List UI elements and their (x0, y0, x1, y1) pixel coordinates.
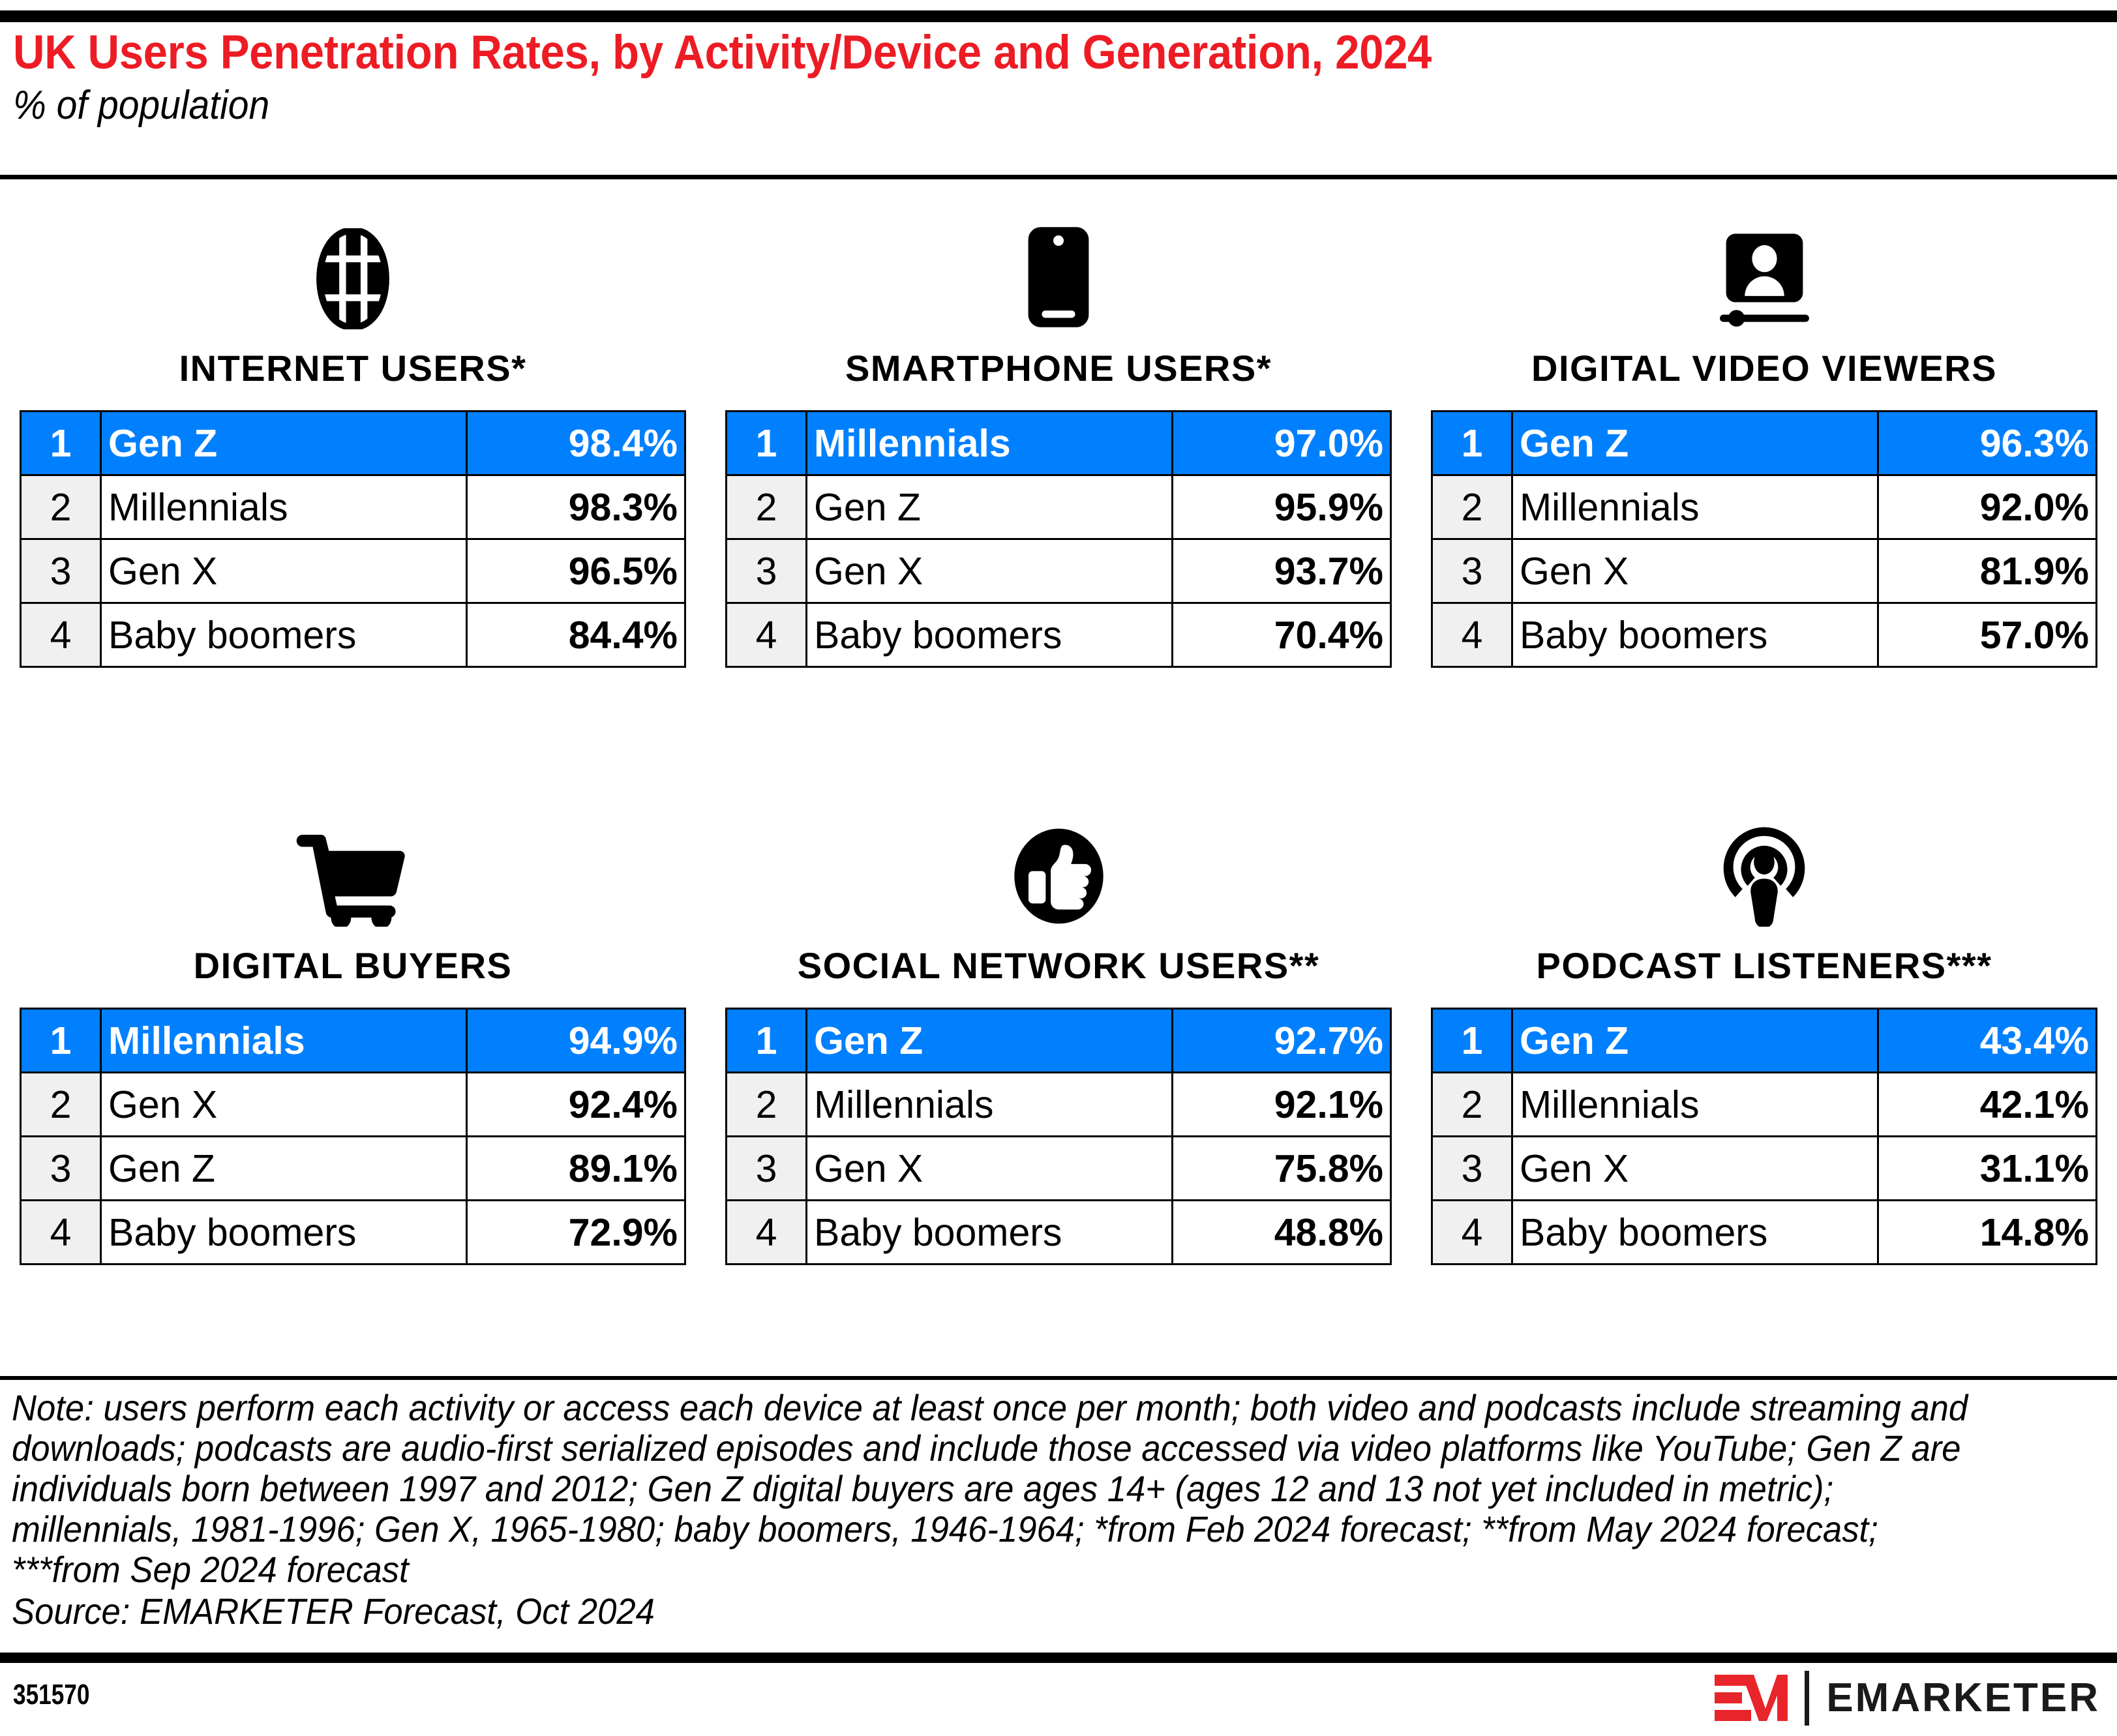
rank-cell: 4 (727, 603, 807, 667)
name-cell: Gen Z (1512, 1009, 1878, 1073)
page-title: UK Users Penetration Rates, by Activity/… (13, 26, 1933, 80)
card-title: SOCIAL NETWORK USERS** (798, 946, 1319, 985)
name-cell: Gen X (1512, 1137, 1878, 1201)
em-logo-mark (1715, 1672, 1788, 1724)
rank-cell: 1 (21, 412, 101, 475)
table-row: 3 Gen X 96.5% (21, 539, 685, 603)
note-text: Note: users perform each activity or acc… (12, 1388, 1979, 1590)
value-cell: 96.3% (1878, 412, 2097, 475)
rank-cell: 4 (1432, 603, 1512, 667)
value-cell: 43.4% (1878, 1009, 2097, 1073)
name-cell: Baby boomers (1512, 1201, 1878, 1265)
card-smartphone-users: SMARTPHONE USERS* 1 Millennials 97.0% 2 … (706, 215, 1411, 668)
header: UK Users Penetration Rates, by Activity/… (13, 26, 2100, 129)
table-row: 4 Baby boomers 72.9% (21, 1201, 685, 1265)
value-cell: 48.8% (1173, 1201, 1391, 1265)
rank-cell: 3 (21, 539, 101, 603)
rank-cell: 1 (21, 1009, 101, 1073)
value-cell: 94.9% (467, 1009, 685, 1073)
rank-table: 1 Gen Z 96.3% 2 Millennials 92.0% 3 Gen … (1431, 410, 2097, 668)
rank-table: 1 Millennials 94.9% 2 Gen X 92.4% 3 Gen … (20, 1008, 686, 1265)
name-cell: Gen Z (101, 1137, 467, 1201)
table-row: 2 Gen Z 95.9% (727, 475, 1391, 539)
value-cell: 70.4% (1173, 603, 1391, 667)
value-cell: 92.4% (467, 1073, 685, 1137)
name-cell: Millennials (101, 475, 467, 539)
name-cell: Gen X (101, 539, 467, 603)
rank-cell: 3 (727, 1137, 807, 1201)
table-row: 2 Millennials 92.0% (1432, 475, 2097, 539)
rank-cell: 2 (727, 1073, 807, 1137)
rank-cell: 2 (21, 475, 101, 539)
table-row: 2 Millennials 98.3% (21, 475, 685, 539)
shopping-cart-icon (296, 813, 410, 927)
rank-cell: 2 (727, 475, 807, 539)
card-digital-video-viewers: DIGITAL VIDEO VIEWERS 1 Gen Z 96.3% 2 Mi… (1411, 215, 2117, 668)
value-cell: 84.4% (467, 603, 685, 667)
name-cell: Millennials (101, 1009, 467, 1073)
logo-divider (1805, 1671, 1809, 1726)
value-cell: 31.1% (1878, 1137, 2097, 1201)
name-cell: Gen X (807, 539, 1173, 603)
video-player-icon (1707, 215, 1822, 329)
table-row: 2 Gen X 92.4% (21, 1073, 685, 1137)
name-cell: Gen Z (101, 412, 467, 475)
value-cell: 98.3% (467, 475, 685, 539)
name-cell: Baby boomers (1512, 603, 1878, 667)
emarketer-logo: EMARKETER (1715, 1672, 2100, 1724)
value-cell: 98.4% (467, 412, 685, 475)
rank-cell: 4 (21, 1201, 101, 1265)
rank-table: 1 Gen Z 43.4% 2 Millennials 42.1% 3 Gen … (1431, 1008, 2097, 1265)
top-rule (0, 10, 2117, 22)
table-row: 3 Gen X 81.9% (1432, 539, 2097, 603)
value-cell: 92.0% (1878, 475, 2097, 539)
value-cell: 89.1% (467, 1137, 685, 1201)
rank-cell: 1 (1432, 412, 1512, 475)
logo-wordmark: EMARKETER (1826, 1678, 2100, 1718)
rank-table: 1 Gen Z 92.7% 2 Millennials 92.1% 3 Gen … (725, 1008, 1392, 1265)
rank-cell: 4 (1432, 1201, 1512, 1265)
card-title: INTERNET USERS* (179, 349, 527, 388)
name-cell: Millennials (1512, 1073, 1878, 1137)
rank-cell: 4 (21, 603, 101, 667)
table-row: 4 Baby boomers 48.8% (727, 1201, 1391, 1265)
note-block: Note: users perform each activity or acc… (12, 1388, 2105, 1632)
value-cell: 95.9% (1173, 475, 1391, 539)
footer: 351570 EMARKETER (0, 1667, 2117, 1736)
value-cell: 14.8% (1878, 1201, 2097, 1265)
source-text: Source: EMARKETER Forecast, Oct 2024 (12, 1591, 1979, 1632)
smartphone-icon (1024, 215, 1093, 329)
card-internet-users: INTERNET USERS* 1 Gen Z 98.4% 2 Millenni… (0, 215, 706, 668)
table-row: 3 Gen Z 89.1% (21, 1137, 685, 1201)
value-cell: 81.9% (1878, 539, 2097, 603)
name-cell: Baby boomers (101, 1201, 467, 1265)
table-row: 4 Baby boomers 70.4% (727, 603, 1391, 667)
value-cell: 92.7% (1173, 1009, 1391, 1073)
rank-table: 1 Millennials 97.0% 2 Gen Z 95.9% 3 Gen … (725, 410, 1392, 668)
value-cell: 93.7% (1173, 539, 1391, 603)
value-cell: 96.5% (467, 539, 685, 603)
value-cell: 97.0% (1173, 412, 1391, 475)
note-divider (0, 1376, 2117, 1380)
rank-cell: 1 (727, 412, 807, 475)
title-divider (0, 175, 2117, 179)
card-digital-buyers: DIGITAL BUYERS 1 Millennials 94.9% 2 Gen… (0, 813, 706, 1265)
card-social-network-users: SOCIAL NETWORK USERS** 1 Gen Z 92.7% 2 M… (706, 813, 1411, 1265)
table-row: 2 Millennials 42.1% (1432, 1073, 2097, 1137)
rank-cell: 3 (1432, 539, 1512, 603)
rank-cell: 3 (1432, 1137, 1512, 1201)
table-row: 4 Baby boomers 57.0% (1432, 603, 2097, 667)
table-row: 1 Millennials 97.0% (727, 412, 1391, 475)
value-cell: 57.0% (1878, 603, 2097, 667)
value-cell: 72.9% (467, 1201, 685, 1265)
name-cell: Gen X (1512, 539, 1878, 603)
name-cell: Gen X (807, 1137, 1173, 1201)
card-podcast-listeners: PODCAST LISTENERS*** 1 Gen Z 43.4% 2 Mil… (1411, 813, 2117, 1265)
rank-cell: 2 (21, 1073, 101, 1137)
name-cell: Millennials (807, 412, 1173, 475)
rank-cell: 3 (727, 539, 807, 603)
cards-grid: INTERNET USERS* 1 Gen Z 98.4% 2 Millenni… (0, 215, 2117, 1265)
rank-cell: 4 (727, 1201, 807, 1265)
cards-row-1: INTERNET USERS* 1 Gen Z 98.4% 2 Millenni… (0, 215, 2117, 668)
name-cell: Gen Z (1512, 412, 1878, 475)
value-cell: 75.8% (1173, 1137, 1391, 1201)
table-row: 1 Gen Z 98.4% (21, 412, 685, 475)
chart-id: 351570 (13, 1679, 89, 1711)
rank-cell: 3 (21, 1137, 101, 1201)
rank-table: 1 Gen Z 98.4% 2 Millennials 98.3% 3 Gen … (20, 410, 686, 668)
infographic-page: UK Users Penetration Rates, by Activity/… (0, 0, 2117, 1736)
rank-cell: 1 (1432, 1009, 1512, 1073)
card-title: DIGITAL VIDEO VIEWERS (1531, 349, 1997, 388)
thumbs-up-icon (1008, 813, 1109, 927)
bottom-rule (0, 1653, 2117, 1663)
page-subtitle: % of population (13, 82, 1933, 129)
table-row: 3 Gen X 93.7% (727, 539, 1391, 603)
rank-cell: 2 (1432, 1073, 1512, 1137)
name-cell: Millennials (807, 1073, 1173, 1137)
card-title: DIGITAL BUYERS (194, 946, 513, 985)
table-row: 4 Baby boomers 84.4% (21, 603, 685, 667)
name-cell: Baby boomers (807, 603, 1173, 667)
globe-icon (304, 215, 402, 329)
name-cell: Baby boomers (101, 603, 467, 667)
table-row: 2 Millennials 92.1% (727, 1073, 1391, 1137)
table-row: 1 Gen Z 92.7% (727, 1009, 1391, 1073)
name-cell: Baby boomers (807, 1201, 1173, 1265)
table-row: 1 Gen Z 96.3% (1432, 412, 2097, 475)
table-row: 4 Baby boomers 14.8% (1432, 1201, 2097, 1265)
podcast-icon (1713, 813, 1816, 927)
name-cell: Gen Z (807, 475, 1173, 539)
table-row: 3 Gen X 31.1% (1432, 1137, 2097, 1201)
card-title: PODCAST LISTENERS*** (1537, 946, 1992, 985)
card-title: SMARTPHONE USERS* (845, 349, 1272, 388)
value-cell: 92.1% (1173, 1073, 1391, 1137)
table-row: 1 Millennials 94.9% (21, 1009, 685, 1073)
rank-cell: 2 (1432, 475, 1512, 539)
rank-cell: 1 (727, 1009, 807, 1073)
cards-row-2: DIGITAL BUYERS 1 Millennials 94.9% 2 Gen… (0, 813, 2117, 1265)
name-cell: Millennials (1512, 475, 1878, 539)
table-row: 1 Gen Z 43.4% (1432, 1009, 2097, 1073)
value-cell: 42.1% (1878, 1073, 2097, 1137)
name-cell: Gen X (101, 1073, 467, 1137)
name-cell: Gen Z (807, 1009, 1173, 1073)
table-row: 3 Gen X 75.8% (727, 1137, 1391, 1201)
